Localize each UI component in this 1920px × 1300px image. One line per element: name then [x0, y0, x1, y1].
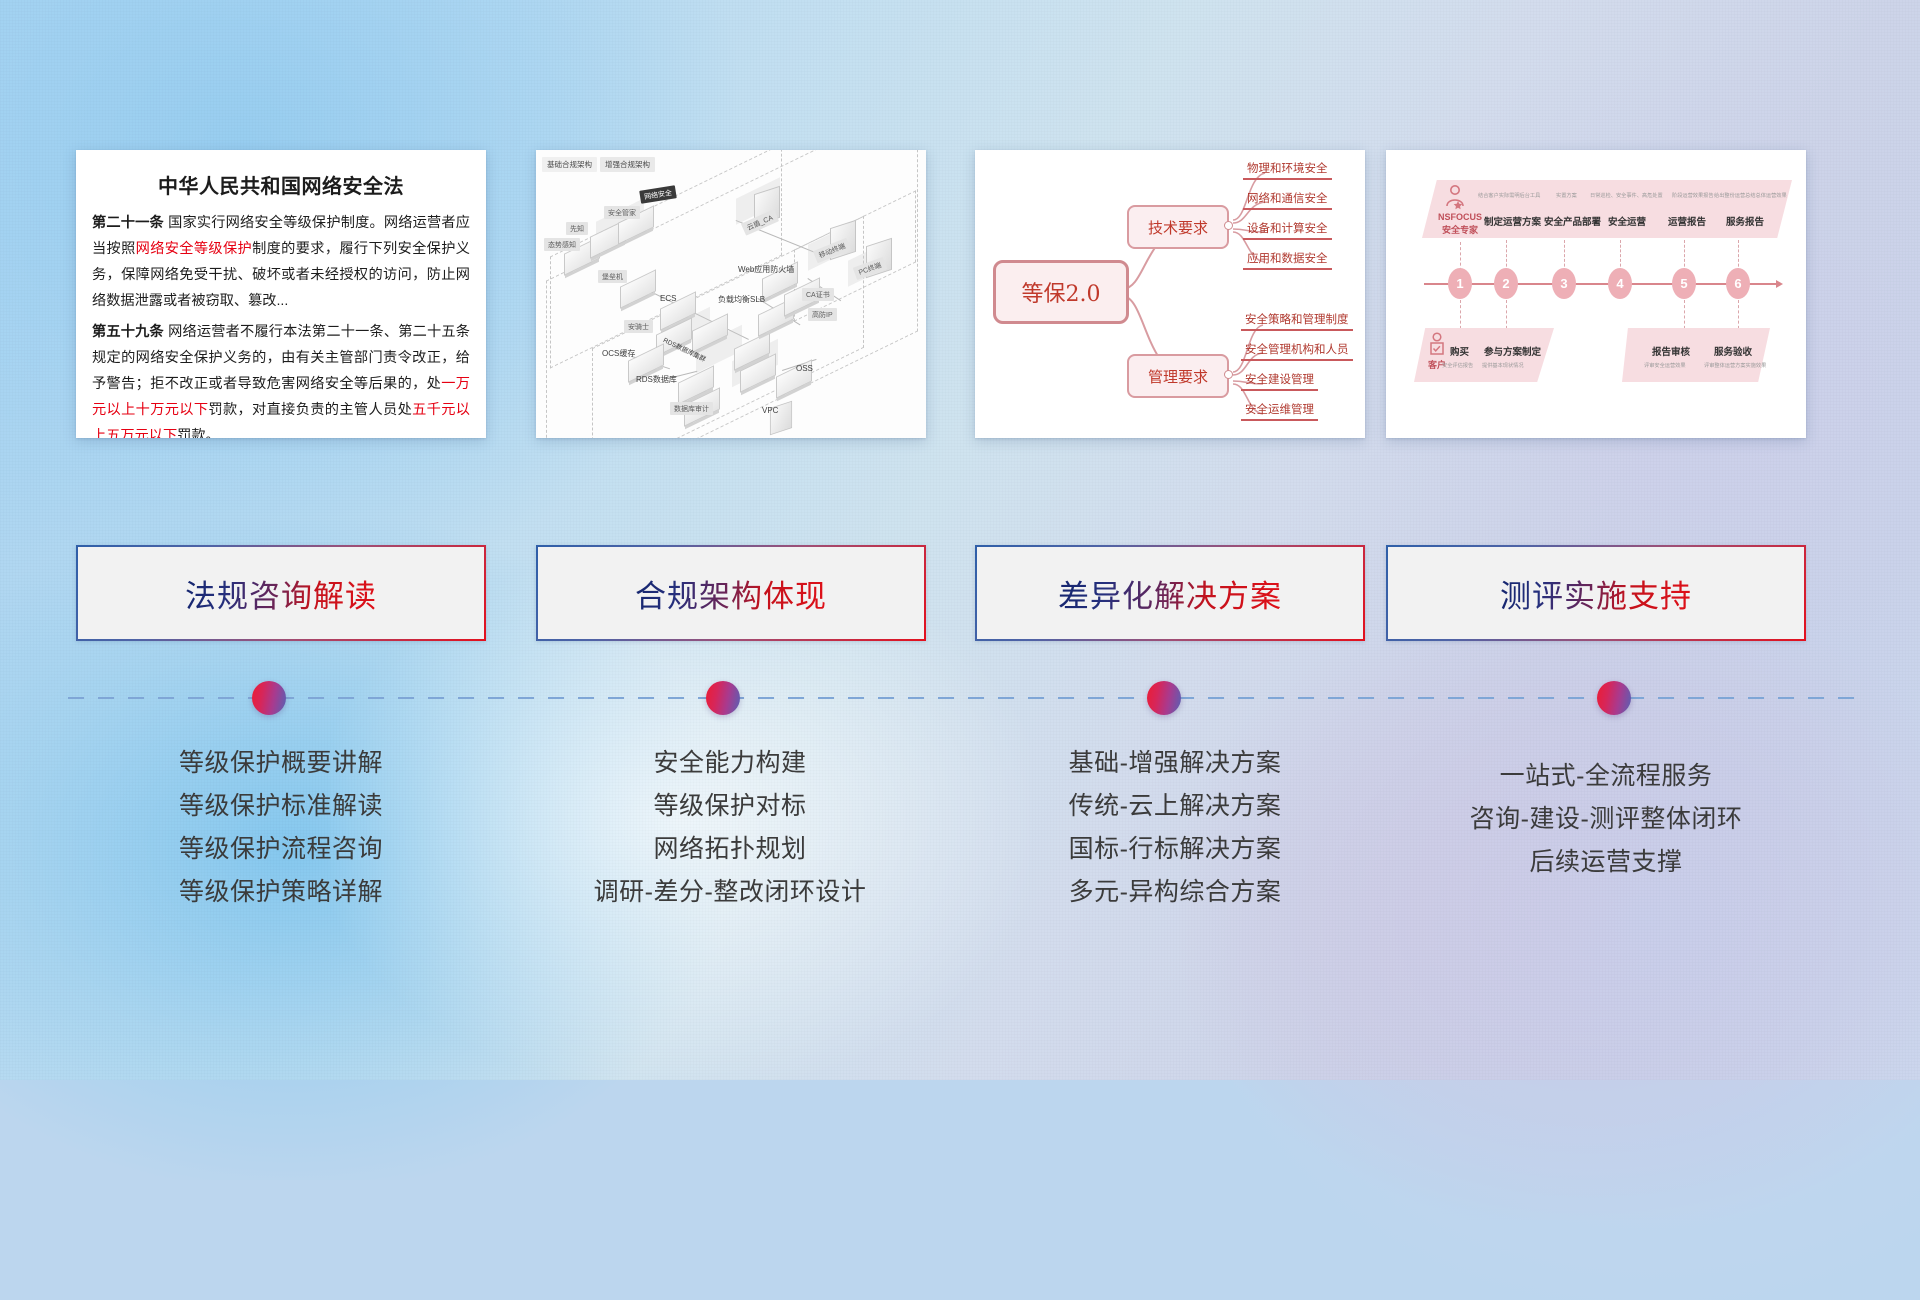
law-article-21-number: 第二十一条	[92, 215, 164, 231]
feature-list-3: 基础-增强解决方案 传统-云上解决方案 国标-行标解决方案 多元-异构综合方案	[965, 742, 1385, 914]
feature-list-1: 等级保护概要讲解 等级保护标准解读 等级保护流程咨询 等级保护策略详解	[76, 742, 486, 914]
process-node-1[interactable]: 1	[1448, 268, 1472, 299]
arch-node-waf: Web应用防火墙	[734, 262, 798, 276]
list-item: 等级保护标准解读	[76, 785, 486, 828]
process-node-4[interactable]: 4	[1608, 268, 1632, 299]
list-item: 传统-云上解决方案	[965, 785, 1385, 828]
mindmap-leaf-tech-1: 网络和通信安全	[1243, 190, 1332, 210]
arch-node-db-audit: 数据库审计	[670, 402, 713, 415]
process-timeline-arrow-icon	[1776, 280, 1783, 288]
card-mindmap[interactable]: 等保2.0 技术要求 管理要求 物理和环境安全 网络和通信安全 设备和计算安全 …	[975, 150, 1365, 438]
arch-node-ca-cert: CA证书	[802, 288, 834, 301]
mindmap-canvas: 等保2.0 技术要求 管理要求 物理和环境安全 网络和通信安全 设备和计算安全 …	[975, 150, 1365, 438]
law-article-21-run-1: 网络安全等级保护	[136, 241, 252, 257]
list-item: 网络拓扑规划	[520, 828, 940, 871]
customer-person-icon	[1426, 332, 1448, 358]
law-article-59: 第五十九条 网络运营者不履行本法第二十一条、第二十五条规定的网络安全保护义务的，…	[92, 320, 470, 438]
arch-node-slb: 负载均衡SLB	[714, 292, 769, 306]
architecture-canvas: 基础合规架构 增强合规架构	[536, 150, 926, 438]
title-box-4-inner: 测评实施支持	[1388, 547, 1804, 639]
list-item: 一站式-全流程服务	[1386, 755, 1826, 798]
law-article-59-run-2: 罚款，对直接负责的主管人员处	[208, 402, 412, 418]
arch-node-gaofang-ip: 高防IP	[808, 308, 837, 321]
mindmap-leaf-mgmt-0: 安全策略和管理制度	[1241, 311, 1353, 331]
mindmap-leaf-tech-3: 应用和数据安全	[1243, 250, 1332, 270]
mindmap-collapse-dot-management[interactable]	[1224, 370, 1233, 379]
arch-tab-basic[interactable]: 基础合规架构	[542, 157, 597, 172]
card-architecture-diagram[interactable]: 基础合规架构 增强合规架构	[536, 150, 926, 438]
process-step-6-bottom-main: 服务验收	[1714, 344, 1752, 358]
list-item: 基础-增强解决方案	[965, 742, 1385, 785]
process-step-2-bottom-main: 参与方案制定	[1484, 344, 1541, 358]
list-item: 等级保护概要讲解	[76, 742, 486, 785]
title-box-2-inner: 合规架构体现	[538, 547, 924, 639]
process-step-4-top-main: 安全运营	[1608, 214, 1646, 228]
mindmap-root-node: 等保2.0	[993, 260, 1129, 324]
title-text-2: 合规架构体现	[635, 571, 827, 616]
title-box-2[interactable]: 合规架构体现	[536, 545, 926, 641]
feature-list-4: 一站式-全流程服务 咨询-建设-测评整体闭环 后续运营支撑	[1386, 755, 1826, 884]
timeline-dot-4[interactable]	[1597, 681, 1631, 715]
process-step-6-top-sub: 给出整份运营总结总体运营效果	[1714, 192, 1787, 199]
timeline-dot-2[interactable]	[706, 681, 740, 715]
title-box-3-inner: 差异化解决方案	[977, 547, 1363, 639]
law-document-body: 中华人民共和国网络安全法 第二十一条 国家实行网络安全等级保护制度。网络运营者应…	[76, 150, 486, 438]
process-canvas: NSFOCUS 安全专家 结合客户实际需明后台工具 制定运营方案 实置方案 安全…	[1386, 150, 1806, 438]
slide-stage: 中华人民共和国网络安全法 第二十一条 国家实行网络安全等级保护制度。网络运营者应…	[0, 0, 1920, 1080]
mindmap-collapse-dot-technical[interactable]	[1224, 221, 1233, 230]
mindmap-leaf-mgmt-2: 安全建设管理	[1241, 371, 1318, 391]
process-step-2-top-sub: 结合客户实际需明后台工具	[1478, 192, 1540, 199]
arch-node-oss: OSS	[792, 362, 817, 374]
process-step-3-top-main: 安全产品部署	[1544, 214, 1601, 228]
timeline-dot-3[interactable]	[1147, 681, 1181, 715]
arch-node-rds: RDS数据库	[632, 372, 681, 386]
arch-node-ocs-cache: OCS缓存	[598, 346, 639, 360]
mindmap-branch-management: 管理要求	[1127, 354, 1229, 398]
process-step-4-top-sub: 日常巡检、安全事件、高危处置	[1590, 192, 1663, 199]
mindmap-branch-technical: 技术要求	[1127, 205, 1229, 249]
list-item: 国标-行标解决方案	[965, 828, 1385, 871]
process-node-3[interactable]: 3	[1552, 268, 1576, 299]
list-item: 安全能力构建	[520, 742, 940, 785]
timeline-dashed-line	[68, 697, 1858, 699]
process-step-5-top-sub: 阶段运营效果报告	[1672, 192, 1714, 199]
title-box-4[interactable]: 测评实施支持	[1386, 545, 1806, 641]
mindmap-leaf-mgmt-3: 安全运维管理	[1241, 401, 1318, 421]
mindmap-leaf-mgmt-1: 安全管理机构和人员	[1241, 341, 1353, 361]
mindmap-leaf-tech-2: 设备和计算安全	[1243, 220, 1332, 240]
list-item: 多元-异构综合方案	[965, 871, 1385, 914]
arch-node-xianzhi: 先知	[566, 222, 588, 235]
list-item: 调研-差分-整改闭环设计	[520, 871, 940, 914]
arch-node-baolei-ji: 堡垒机	[598, 270, 627, 283]
process-node-5[interactable]: 5	[1672, 268, 1696, 299]
arch-node-anqishi: 安骑士	[624, 320, 653, 333]
title-text-3: 差异化解决方案	[1058, 571, 1282, 616]
arch-tab-enhanced[interactable]: 增强合规架构	[600, 157, 655, 172]
process-step-1-bottom-sub: 安全评估报告	[1442, 362, 1473, 369]
timeline-dot-1[interactable]	[252, 681, 286, 715]
list-item: 等级保护对标	[520, 785, 940, 828]
process-step-2-bottom-sub: 提供基本现状情况	[1482, 362, 1524, 369]
process-node-2[interactable]: 2	[1494, 268, 1518, 299]
process-step-5-top-main: 运营报告	[1668, 214, 1706, 228]
arch-node-ecs: ECS	[656, 292, 680, 304]
title-box-1-inner: 法规咨询解读	[78, 547, 484, 639]
process-step-1-bottom-main: 购买	[1450, 344, 1469, 358]
process-timeline-axis	[1424, 283, 1776, 285]
law-article-59-run-4: 罚款。	[177, 428, 220, 438]
list-item: 咨询-建设-测评整体闭环	[1386, 798, 1826, 841]
arch-node-vpc: VPC	[758, 404, 782, 416]
process-step-6-top-main: 服务报告	[1726, 214, 1764, 228]
process-expert-title: NSFOCUS	[1438, 212, 1482, 222]
card-service-process[interactable]: NSFOCUS 安全专家 结合客户实际需明后台工具 制定运营方案 实置方案 安全…	[1386, 150, 1806, 438]
arch-node-anquan-guanjia: 安全管家	[604, 206, 640, 219]
expert-person-icon	[1442, 184, 1468, 210]
process-step-3-top-sub: 实置方案	[1556, 192, 1577, 199]
card-law-document[interactable]: 中华人民共和国网络安全法 第二十一条 国家实行网络安全等级保护制度。网络运营者应…	[76, 150, 486, 438]
title-text-4: 测评实施支持	[1500, 571, 1692, 616]
process-step-5-bottom-sub: 评审安全运营效果	[1644, 362, 1686, 369]
process-step-5-bottom-main: 报告审核	[1652, 344, 1690, 358]
process-expert-subtitle: 安全专家	[1442, 223, 1478, 236]
process-node-6[interactable]: 6	[1726, 268, 1750, 299]
list-item: 等级保护流程咨询	[76, 828, 486, 871]
list-item: 等级保护策略详解	[76, 871, 486, 914]
list-item: 后续运营支撑	[1386, 841, 1826, 884]
title-box-1[interactable]: 法规咨询解读	[76, 545, 486, 641]
process-step-6-bottom-sub: 评审整体运营方案实施效果	[1704, 362, 1766, 369]
arch-node-taishi-ganzhi: 态势感知	[544, 238, 580, 251]
law-article-21: 第二十一条 国家实行网络安全等级保护制度。网络运营者应当按照网络安全等级保护制度…	[92, 211, 470, 314]
title-text-1: 法规咨询解读	[185, 571, 377, 616]
law-document-title: 中华人民共和国网络安全法	[92, 170, 470, 199]
process-step-2-top-main: 制定运营方案	[1484, 214, 1541, 228]
title-box-3[interactable]: 差异化解决方案	[975, 545, 1365, 641]
law-article-59-number: 第五十九条	[92, 324, 164, 340]
mindmap-leaf-tech-0: 物理和环境安全	[1243, 160, 1332, 180]
feature-list-2: 安全能力构建 等级保护对标 网络拓扑规划 调研-差分-整改闭环设计	[520, 742, 940, 914]
